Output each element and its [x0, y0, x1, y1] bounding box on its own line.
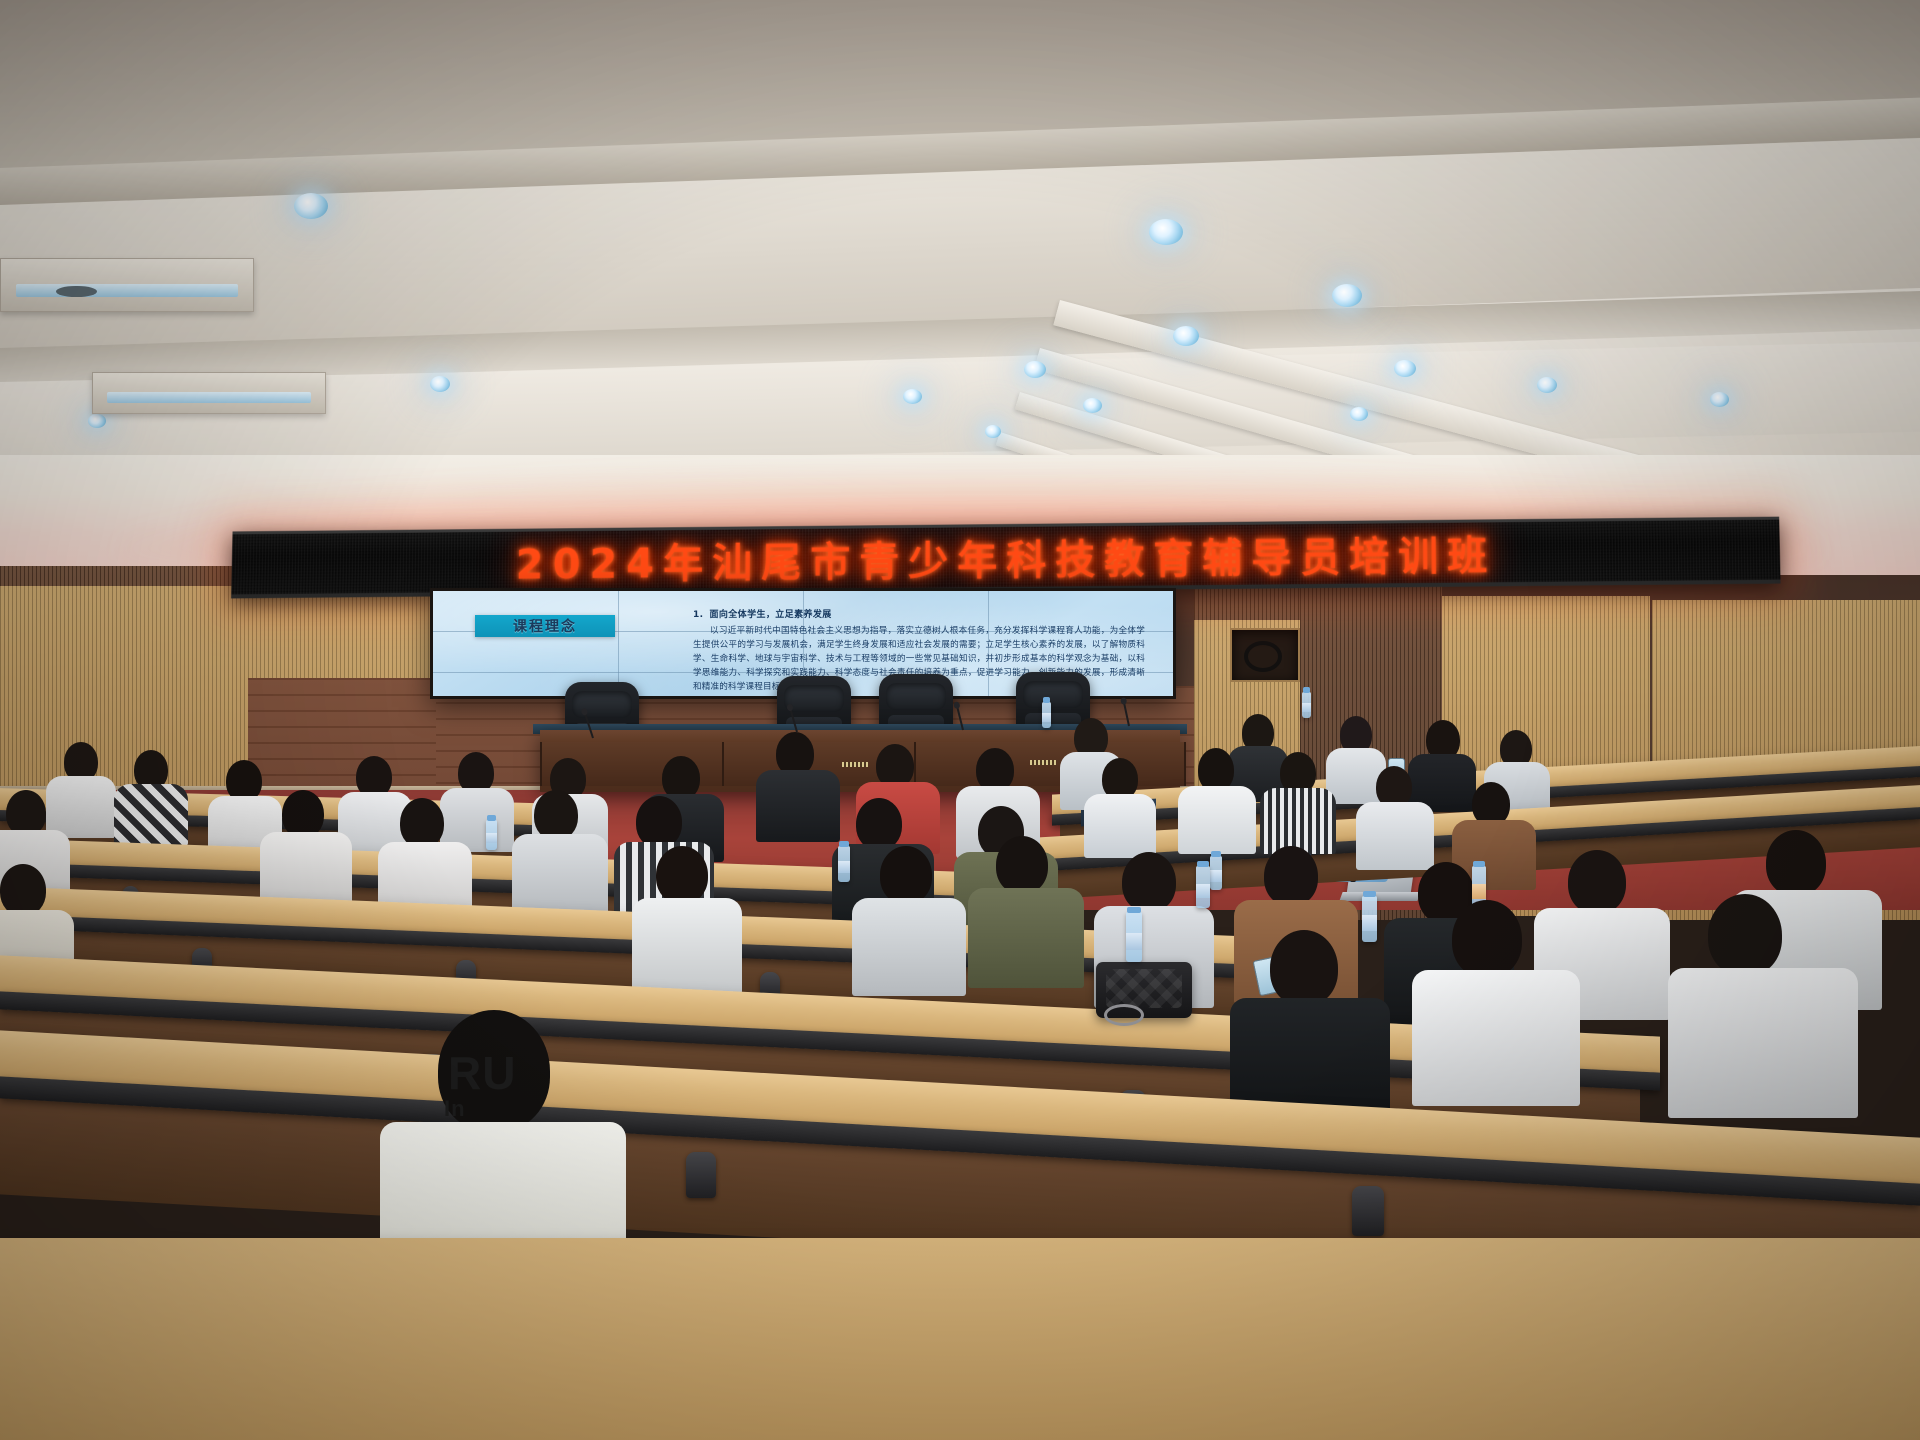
bottle-cap: [839, 841, 849, 847]
ceiling-downlight: [1332, 284, 1362, 307]
person-head: [1122, 852, 1176, 912]
water-bottle: [1362, 896, 1377, 942]
person-body: [1356, 802, 1434, 870]
person-head: [1568, 850, 1626, 914]
ceiling-downlight: [1537, 377, 1557, 393]
person-head: [1766, 830, 1826, 896]
bottle-cap: [1363, 891, 1376, 897]
hoodie-text-line1: RU: [448, 1046, 516, 1100]
ceiling-downlight: [1024, 361, 1046, 378]
led-banner-text: 2024年汕尾市青少年科技教育辅导员培训班: [515, 523, 1496, 590]
head-table-vent: [842, 762, 868, 767]
person-body: [512, 834, 608, 918]
head-table-vent: [1030, 760, 1056, 765]
person-body: [632, 898, 742, 994]
slide-heading-text: 面向全体学生，立足素养发展: [709, 610, 831, 620]
water-bottle: [1196, 866, 1210, 908]
person-head: [1708, 894, 1782, 976]
person-body: [1084, 794, 1156, 858]
ceiling-downlight: [1083, 398, 1102, 413]
bottle-cap: [1211, 851, 1221, 857]
slide-section-tag: 课程理念: [475, 615, 615, 637]
ceiling-downlight: [1710, 392, 1729, 407]
bottle-label: [838, 861, 850, 873]
handbag: [1096, 962, 1192, 1018]
bottle-cap: [1197, 861, 1209, 867]
bottle-label: [1302, 703, 1311, 712]
air-conditioner-vent: [92, 372, 326, 414]
ceiling-downlight: [294, 193, 328, 219]
bottle-label: [1472, 884, 1486, 899]
person-body: [968, 888, 1084, 988]
slide-section-tag-label: 课程理念: [513, 616, 577, 636]
floor-foreground: [0, 1238, 1920, 1440]
hoodie-text-line2: In: [444, 1096, 466, 1122]
cable-coil: [1244, 641, 1282, 672]
person-head: [1264, 846, 1318, 906]
bottle-cap: [1473, 861, 1485, 867]
slide-heading-number: 1.: [693, 610, 703, 620]
person-head: [0, 864, 46, 916]
ceiling-downlight: [1350, 407, 1368, 421]
water-bottle: [1302, 692, 1311, 718]
bottle-cap: [1303, 687, 1310, 693]
ceiling-downlight: [88, 414, 106, 428]
water-bottle: [486, 820, 497, 850]
slide-heading: 1.面向全体学生，立足素养发展: [693, 607, 1145, 620]
bottle-label: [1042, 713, 1051, 722]
person-head: [534, 790, 578, 840]
ceiling-downlight: [1394, 360, 1416, 377]
bottle-label: [1126, 933, 1142, 950]
water-bottle: [1042, 702, 1051, 728]
ceiling-downlight: [903, 389, 922, 404]
desk-rail-cap: [686, 1152, 716, 1198]
person-head: [1270, 930, 1338, 1006]
person-body: [1260, 788, 1336, 854]
water-bottle: [1126, 912, 1142, 962]
vent-slot: [16, 284, 238, 298]
lecture-hall-photo: 2024年汕尾市青少年科技教育辅导员培训班 课程理念 1.面向全体学生，立足素养…: [0, 0, 1920, 1440]
bottle-cap: [1127, 907, 1141, 913]
vent-slot: [107, 392, 311, 402]
person-body: [1412, 970, 1580, 1106]
bottle-label: [1210, 870, 1222, 882]
person-head: [400, 798, 444, 848]
person-head: [856, 798, 902, 850]
person-body: [1178, 786, 1256, 854]
water-bottle: [1210, 856, 1222, 890]
person-head: [282, 790, 324, 838]
water-bottle: [838, 846, 850, 882]
bottle-cap: [1043, 697, 1050, 703]
person-body: [46, 776, 116, 838]
ceiling: [0, 0, 1920, 530]
person-head: [880, 846, 932, 904]
bottle-label: [1362, 915, 1377, 931]
ceiling-downlight: [985, 425, 1001, 438]
projection-booth-window-left: [1230, 628, 1300, 682]
person-head: [1452, 900, 1522, 978]
person-body: [1668, 968, 1858, 1118]
bottle-label: [1196, 884, 1210, 898]
person-body: [756, 770, 840, 842]
bottle-label: [486, 833, 497, 843]
ceiling-downlight: [1149, 219, 1183, 245]
person-head: [656, 846, 708, 904]
ceiling-downlight: [1173, 326, 1199, 346]
person-head: [996, 836, 1048, 894]
air-conditioner-vent: [0, 258, 254, 312]
ceiling-downlight: [430, 376, 450, 392]
video-wall-seam: [618, 591, 619, 696]
desk-rail-cap: [1352, 1186, 1384, 1236]
person-head: [636, 796, 682, 848]
bottle-cap: [487, 815, 496, 821]
person-body: [114, 784, 188, 846]
person-body: [852, 898, 966, 996]
